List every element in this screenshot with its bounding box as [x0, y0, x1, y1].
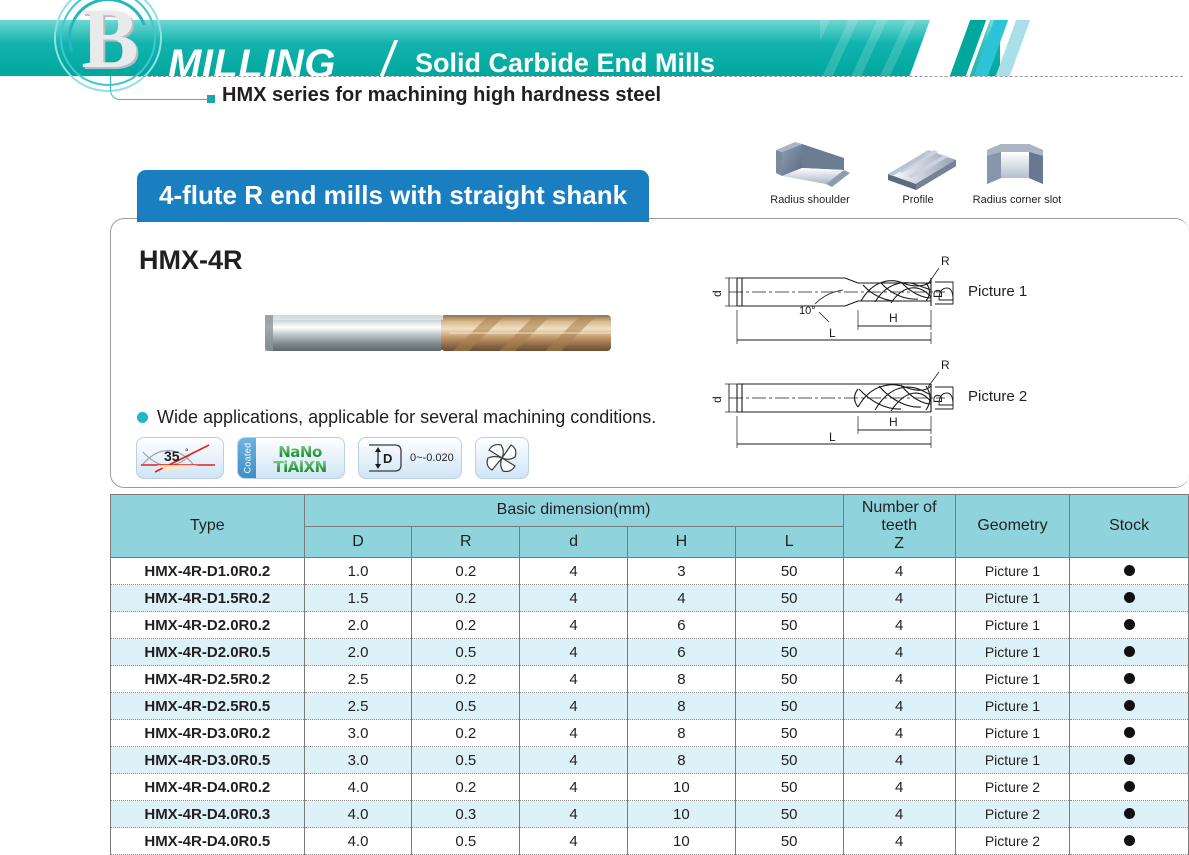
svg-text:°: ° — [185, 447, 189, 457]
cell-R: 0.2 — [412, 558, 520, 585]
geometry-drawing-picture1: d R H L D 10° — [695, 252, 965, 353]
stock-available-icon — [1124, 619, 1135, 630]
profile-label: Profile — [868, 194, 968, 206]
stock-available-icon — [1124, 835, 1135, 846]
application-radius-shoulder: Radius shoulder — [760, 140, 860, 206]
logo-letter: B — [66, 0, 154, 84]
feature-badges: 35 ° Coated NaNo TiAlXN D 0~-0.020 — [136, 437, 529, 479]
cell-H: 10 — [627, 774, 735, 801]
cell-d: 4 — [520, 612, 628, 639]
cell-type: HMX-4R-D3.0R0.5 — [111, 747, 305, 774]
cell-type: HMX-4R-D1.0R0.2 — [111, 558, 305, 585]
cell-d: 4 — [520, 693, 628, 720]
pic2-dim-D: D — [931, 394, 945, 403]
cell-stock — [1070, 585, 1189, 612]
cell-geometry: Picture 2 — [955, 801, 1069, 828]
product-photo — [263, 307, 613, 359]
geometry-drawing-picture2: d R H L D — [695, 358, 965, 457]
cell-R: 0.5 — [412, 828, 520, 855]
cell-d: 4 — [520, 639, 628, 666]
profile-icon — [868, 140, 968, 192]
picture1-label: Picture 1 — [968, 283, 1027, 300]
page-header-banner: MILLING Solid Carbide End Mills — [0, 20, 1189, 76]
cell-L: 50 — [735, 612, 843, 639]
cell-H: 6 — [627, 612, 735, 639]
cell-geometry: Picture 1 — [955, 639, 1069, 666]
cell-R: 0.5 — [412, 747, 520, 774]
cell-D: 3.0 — [304, 747, 412, 774]
header-H: H — [627, 526, 735, 558]
cell-type: HMX-4R-D4.0R0.5 — [111, 828, 305, 855]
cell-d: 4 — [520, 720, 628, 747]
cell-geometry: Picture 1 — [955, 666, 1069, 693]
cell-R: 0.2 — [412, 585, 520, 612]
header-R: R — [412, 526, 520, 558]
application-profile: Profile — [868, 140, 968, 206]
cell-L: 50 — [735, 558, 843, 585]
table-row: HMX-4R-D3.0R0.53.00.548504Picture 1 — [111, 747, 1189, 774]
specification-table: Type Basic dimension(mm) Number of teeth… — [110, 494, 1189, 855]
cell-R: 0.3 — [412, 801, 520, 828]
cell-H: 8 — [627, 666, 735, 693]
pic2-dim-L: L — [829, 430, 836, 444]
coating-name: NaNo TiAlXN — [256, 442, 344, 475]
cell-geometry: Picture 1 — [955, 558, 1069, 585]
cell-Z: 4 — [843, 720, 955, 747]
header-geometry: Geometry — [955, 495, 1069, 558]
cell-Z: 4 — [843, 585, 955, 612]
header-number-of-teeth: Number of teeth Z — [843, 495, 955, 558]
table-row: HMX-4R-D2.5R0.52.50.548504Picture 1 — [111, 693, 1189, 720]
cell-stock — [1070, 720, 1189, 747]
cell-L: 50 — [735, 801, 843, 828]
svg-text:D: D — [383, 451, 392, 466]
cell-R: 0.2 — [412, 720, 520, 747]
stock-available-icon — [1124, 700, 1135, 711]
pic2-dim-R: R — [941, 358, 950, 372]
pic2-dim-H: H — [889, 415, 898, 429]
cell-R: 0.5 — [412, 693, 520, 720]
cell-stock — [1070, 747, 1189, 774]
application-radius-corner-slot: Radius corner slot — [967, 140, 1067, 206]
helix-angle-icon: 35 ° — [137, 438, 223, 478]
bullet-dot-icon — [137, 412, 148, 423]
cell-H: 4 — [627, 585, 735, 612]
four-flute-end-view-icon — [481, 440, 523, 476]
pic1-dim-d: d — [710, 290, 724, 297]
series-title: Solid Carbide End Mills — [415, 48, 715, 79]
cell-geometry: Picture 2 — [955, 828, 1069, 855]
cell-stock — [1070, 612, 1189, 639]
cell-R: 0.2 — [412, 774, 520, 801]
header-dashed-rule — [133, 76, 1183, 77]
cell-type: HMX-4R-D4.0R0.2 — [111, 774, 305, 801]
cell-Z: 4 — [843, 747, 955, 774]
section-title-pill: 4-flute R end mills with straight shank — [137, 170, 649, 222]
cell-H: 8 — [627, 747, 735, 774]
cell-H: 10 — [627, 828, 735, 855]
cell-d: 4 — [520, 801, 628, 828]
cell-type: HMX-4R-D2.5R0.2 — [111, 666, 305, 693]
cell-D: 4.0 — [304, 801, 412, 828]
cell-H: 8 — [627, 720, 735, 747]
table-row: HMX-4R-D1.5R0.21.50.244504Picture 1 — [111, 585, 1189, 612]
logo-connector-dot — [207, 95, 215, 103]
cell-L: 50 — [735, 828, 843, 855]
table-body: HMX-4R-D1.0R0.21.00.243504Picture 1HMX-4… — [111, 558, 1189, 855]
table-row: HMX-4R-D4.0R0.54.00.5410504Picture 2 — [111, 828, 1189, 855]
cell-L: 50 — [735, 639, 843, 666]
table-row: HMX-4R-D2.0R0.52.00.546504Picture 1 — [111, 639, 1189, 666]
cell-geometry: Picture 1 — [955, 720, 1069, 747]
cell-d: 4 — [520, 585, 628, 612]
radius-corner-slot-icon — [967, 140, 1067, 192]
cell-Z: 4 — [843, 639, 955, 666]
cell-type: HMX-4R-D2.0R0.5 — [111, 639, 305, 666]
feature-bullet-row: Wide applications, applicable for severa… — [137, 407, 656, 428]
stock-available-icon — [1124, 646, 1135, 657]
cell-L: 50 — [735, 720, 843, 747]
radius-shoulder-icon — [760, 140, 860, 192]
cell-geometry: Picture 1 — [955, 612, 1069, 639]
cell-Z: 4 — [843, 828, 955, 855]
stock-available-icon — [1124, 781, 1135, 792]
header-type: Type — [111, 495, 305, 558]
stock-available-icon — [1124, 673, 1135, 684]
cell-L: 50 — [735, 747, 843, 774]
pic1-dim-L: L — [829, 326, 836, 340]
coated-side-label: Coated — [238, 438, 256, 478]
picture2-label: Picture 2 — [968, 388, 1027, 405]
coating-line-2: TiAlXN — [256, 460, 344, 475]
cell-type: HMX-4R-D2.0R0.2 — [111, 612, 305, 639]
application-icons: Radius shoulder Profile — [760, 140, 1090, 220]
diameter-tolerance-badge: D 0~-0.020 — [358, 437, 462, 479]
pic2-dim-d: d — [710, 396, 724, 403]
product-code: HMX-4R — [139, 245, 243, 276]
cell-D: 1.5 — [304, 585, 412, 612]
cell-D: 3.0 — [304, 720, 412, 747]
product-card: HMX-4R — [110, 218, 1189, 488]
table-row: HMX-4R-D3.0R0.23.00.248504Picture 1 — [111, 720, 1189, 747]
cell-d: 4 — [520, 774, 628, 801]
cell-L: 50 — [735, 666, 843, 693]
cell-L: 50 — [735, 774, 843, 801]
pic1-dim-R: R — [941, 254, 950, 268]
svg-text:35: 35 — [164, 448, 180, 464]
cell-R: 0.2 — [412, 666, 520, 693]
helix-angle-badge: 35 ° — [136, 437, 224, 479]
cell-D: 2.0 — [304, 612, 412, 639]
cell-Z: 4 — [843, 801, 955, 828]
cell-type: HMX-4R-D1.5R0.2 — [111, 585, 305, 612]
cell-stock — [1070, 639, 1189, 666]
cell-type: HMX-4R-D4.0R0.3 — [111, 801, 305, 828]
stock-available-icon — [1124, 808, 1135, 819]
cell-D: 4.0 — [304, 828, 412, 855]
cell-R: 0.2 — [412, 612, 520, 639]
cell-d: 4 — [520, 828, 628, 855]
cell-H: 6 — [627, 639, 735, 666]
cell-D: 1.0 — [304, 558, 412, 585]
cell-stock — [1070, 801, 1189, 828]
cell-Z: 4 — [843, 693, 955, 720]
pic1-dim-D: D — [931, 289, 945, 298]
cell-D: 2.0 — [304, 639, 412, 666]
header-stock: Stock — [1070, 495, 1189, 558]
cell-stock — [1070, 774, 1189, 801]
stock-available-icon — [1124, 592, 1135, 603]
cell-Z: 4 — [843, 558, 955, 585]
flute-count-badge — [475, 437, 529, 479]
table-row: HMX-4R-D1.0R0.21.00.243504Picture 1 — [111, 558, 1189, 585]
header-D: D — [304, 526, 412, 558]
cell-stock — [1070, 666, 1189, 693]
table-header-row-1: Type Basic dimension(mm) Number of teeth… — [111, 495, 1189, 527]
cell-H: 10 — [627, 801, 735, 828]
cell-Z: 4 — [843, 666, 955, 693]
series-subtitle: HMX series for machining high hardness s… — [222, 84, 661, 107]
cell-d: 4 — [520, 666, 628, 693]
diameter-tolerance-icon: D — [365, 441, 405, 475]
cell-stock — [1070, 558, 1189, 585]
cell-L: 50 — [735, 585, 843, 612]
header-d: d — [520, 526, 628, 558]
cell-stock — [1070, 828, 1189, 855]
stock-available-icon — [1124, 565, 1135, 576]
cell-D: 4.0 — [304, 774, 412, 801]
category-title: MILLING — [168, 42, 336, 87]
cell-L: 50 — [735, 693, 843, 720]
radius-corner-slot-label: Radius corner slot — [967, 194, 1067, 206]
cell-R: 0.5 — [412, 639, 520, 666]
table-row: HMX-4R-D4.0R0.24.00.2410504Picture 2 — [111, 774, 1189, 801]
table-row: HMX-4R-D2.5R0.22.50.248504Picture 1 — [111, 666, 1189, 693]
stock-available-icon — [1124, 727, 1135, 738]
stock-available-icon — [1124, 754, 1135, 765]
cell-D: 2.5 — [304, 666, 412, 693]
cell-type: HMX-4R-D2.5R0.5 — [111, 693, 305, 720]
pic1-dim-H: H — [889, 311, 898, 325]
cell-geometry: Picture 1 — [955, 585, 1069, 612]
table-row: HMX-4R-D4.0R0.34.00.3410504Picture 2 — [111, 801, 1189, 828]
cell-geometry: Picture 1 — [955, 693, 1069, 720]
tolerance-value: 0~-0.020 — [410, 452, 454, 464]
header-L: L — [735, 526, 843, 558]
cell-type: HMX-4R-D3.0R0.2 — [111, 720, 305, 747]
cell-geometry: Picture 1 — [955, 747, 1069, 774]
cell-d: 4 — [520, 558, 628, 585]
radius-shoulder-label: Radius shoulder — [760, 194, 860, 206]
cell-D: 2.5 — [304, 693, 412, 720]
header-basic-dimension: Basic dimension(mm) — [304, 495, 843, 527]
cell-d: 4 — [520, 747, 628, 774]
cell-H: 8 — [627, 693, 735, 720]
logo-connector-line — [130, 99, 208, 100]
cell-stock — [1070, 693, 1189, 720]
pic1-taper-angle: 10° — [799, 305, 816, 317]
cell-Z: 4 — [843, 612, 955, 639]
coating-badge: Coated NaNo TiAlXN — [237, 437, 345, 479]
feature-bullet-text: Wide applications, applicable for severa… — [157, 407, 656, 428]
logo-connector-curve — [110, 76, 134, 100]
cell-geometry: Picture 2 — [955, 774, 1069, 801]
table-row: HMX-4R-D2.0R0.22.00.246504Picture 1 — [111, 612, 1189, 639]
cell-H: 3 — [627, 558, 735, 585]
cell-Z: 4 — [843, 774, 955, 801]
